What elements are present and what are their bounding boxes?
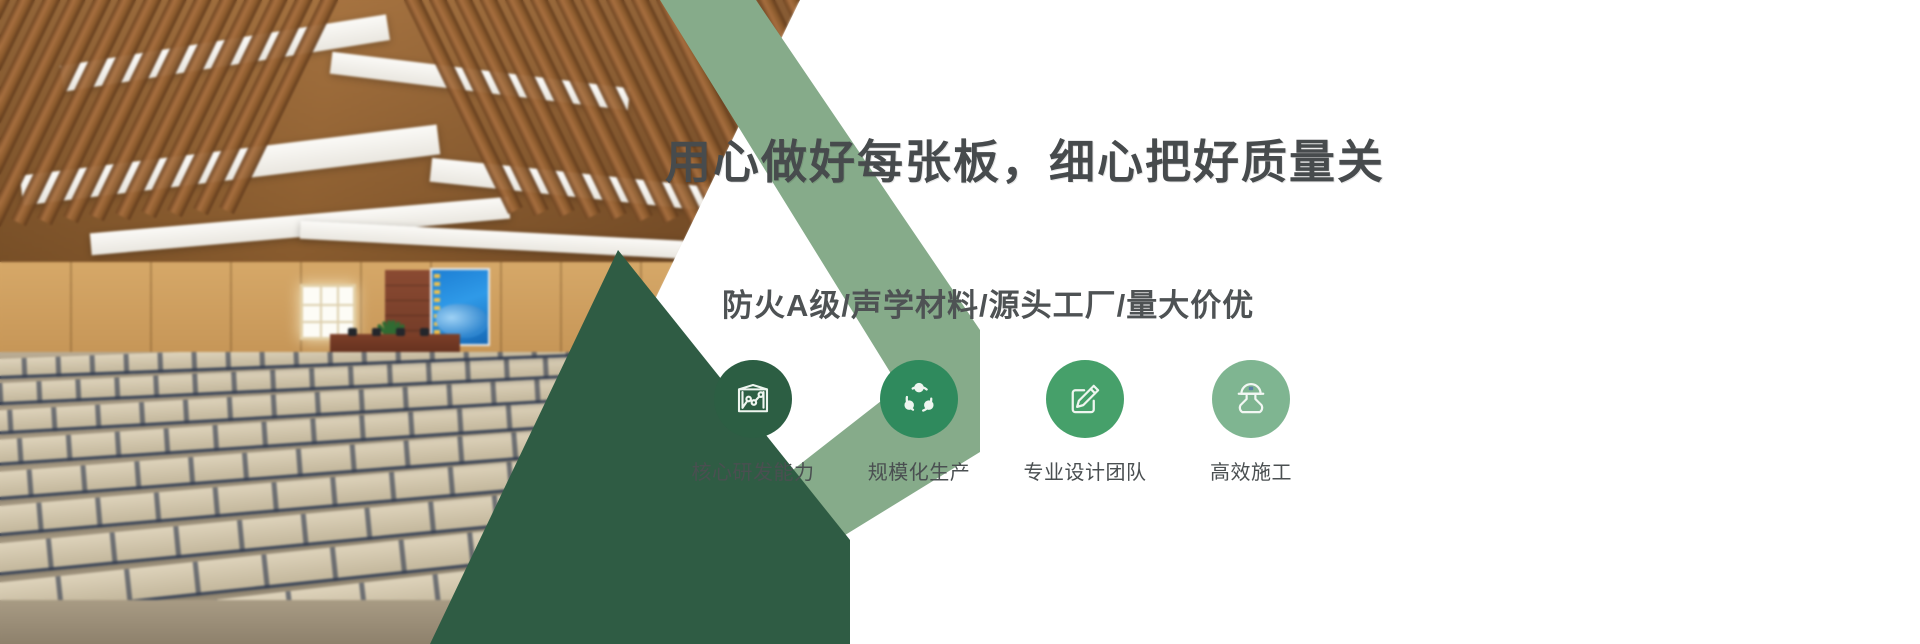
seat-divider xyxy=(271,394,277,418)
feature-item-design[interactable]: 专业设计团队 xyxy=(1028,360,1142,485)
microphone xyxy=(396,328,405,336)
banner-content: 用心做好每张板，细心把好质量关 防火A级/声学材料/源头工厂/量大价优 xyxy=(660,0,1920,644)
seat-divider xyxy=(110,532,118,564)
seat-divider xyxy=(157,353,163,373)
seat-divider xyxy=(123,354,129,374)
seat-divider xyxy=(231,372,237,394)
seat-divider xyxy=(95,498,103,528)
seat-divider xyxy=(315,392,321,416)
seat-divider xyxy=(403,387,409,411)
seat-divider xyxy=(242,453,249,481)
worker-helmet-icon xyxy=(1230,378,1272,420)
seat-divider xyxy=(75,380,81,402)
seat-divider xyxy=(193,562,202,596)
seat-divider xyxy=(330,547,339,581)
edit-pencil-icon xyxy=(1064,378,1106,420)
promo-banner: 用心做好每张板，细心把好质量关 防火A级/声学材料/源头工厂/量大价优 xyxy=(0,0,1920,644)
feature-item-production[interactable]: 规模化生产 xyxy=(862,360,976,485)
seat-divider xyxy=(51,407,57,431)
seat-divider xyxy=(173,526,181,558)
seat-divider xyxy=(164,428,171,454)
seat-divider xyxy=(192,374,198,396)
seat-divider xyxy=(213,487,221,517)
seat-divider xyxy=(270,370,276,392)
seat-divider xyxy=(403,440,410,468)
feature-item-construction[interactable]: 高效施工 xyxy=(1194,360,1308,485)
seat-divider xyxy=(327,352,333,366)
seat-divider xyxy=(36,381,42,403)
seat-divider xyxy=(350,445,357,473)
seat-divider xyxy=(395,352,401,364)
feature-icon-circle xyxy=(1212,360,1290,438)
seat-divider xyxy=(408,412,415,438)
seat-divider xyxy=(359,415,366,441)
feature-icon-circle xyxy=(714,360,792,438)
seat-divider xyxy=(364,508,372,540)
seat-divider xyxy=(399,540,408,574)
seat-divider xyxy=(359,389,365,413)
seat-divider xyxy=(188,457,195,485)
seat-divider xyxy=(124,569,133,603)
seat-divider xyxy=(46,538,54,570)
seat-divider xyxy=(183,400,189,424)
seat-divider xyxy=(154,493,162,523)
feature-label: 高效施工 xyxy=(1210,456,1292,485)
feature-item-rd[interactable]: 核心研发能力 xyxy=(696,360,810,485)
seat-divider xyxy=(95,405,101,429)
seat-divider xyxy=(330,477,338,507)
seat-divider xyxy=(7,410,13,434)
page-title: 用心做好每张板，细心把好质量关 xyxy=(665,126,1385,192)
seat-divider xyxy=(36,503,44,533)
seat-divider xyxy=(259,352,265,369)
seat-divider xyxy=(191,352,197,372)
seat-divider xyxy=(0,383,3,405)
seat-divider xyxy=(225,352,231,370)
seat-divider xyxy=(261,554,270,588)
seat-divider xyxy=(139,402,145,426)
feature-label: 专业设计团队 xyxy=(1024,456,1147,485)
seat-divider xyxy=(293,352,299,368)
window-mullion xyxy=(337,287,339,337)
seat-divider xyxy=(227,397,233,421)
seat-divider xyxy=(361,352,367,365)
seat-divider xyxy=(271,482,279,512)
banner-subtitle: 防火A级/声学材料/源头工厂/量大价优 xyxy=(722,280,1254,325)
microphone xyxy=(372,328,381,336)
window-mullion xyxy=(303,321,353,323)
seat-divider xyxy=(301,514,309,546)
window-mullion xyxy=(303,304,353,306)
seat-divider xyxy=(237,520,245,552)
product-box-chart-icon xyxy=(732,378,774,420)
seat-divider xyxy=(387,365,393,387)
feature-icon-circle xyxy=(1046,360,1124,438)
seat-divider xyxy=(27,469,34,497)
seat-divider xyxy=(66,435,73,461)
share-network-icon xyxy=(898,378,940,420)
seat-divider xyxy=(153,376,159,398)
seat-divider xyxy=(22,358,28,378)
seat-divider xyxy=(80,465,87,493)
feature-list: 核心研发能力 规模化生产 xyxy=(696,360,1308,485)
seat-divider xyxy=(212,425,219,451)
seat-divider xyxy=(296,449,303,477)
seat-divider xyxy=(348,366,354,388)
seat-divider xyxy=(389,472,397,502)
seat-divider xyxy=(309,368,315,390)
seat-divider xyxy=(310,419,317,445)
seat-divider xyxy=(134,461,141,489)
microphone xyxy=(348,328,357,336)
feature-icon-circle xyxy=(880,360,958,438)
seat-divider xyxy=(115,432,122,458)
feature-label: 规模化生产 xyxy=(868,456,971,485)
seat-divider xyxy=(261,422,268,448)
microphone xyxy=(420,328,429,336)
seat-divider xyxy=(56,357,62,377)
seat-divider xyxy=(17,438,24,464)
seat-divider xyxy=(114,378,120,400)
seat-divider xyxy=(89,355,95,375)
window-mullion xyxy=(320,287,322,337)
feature-label: 核心研发能力 xyxy=(692,456,815,485)
